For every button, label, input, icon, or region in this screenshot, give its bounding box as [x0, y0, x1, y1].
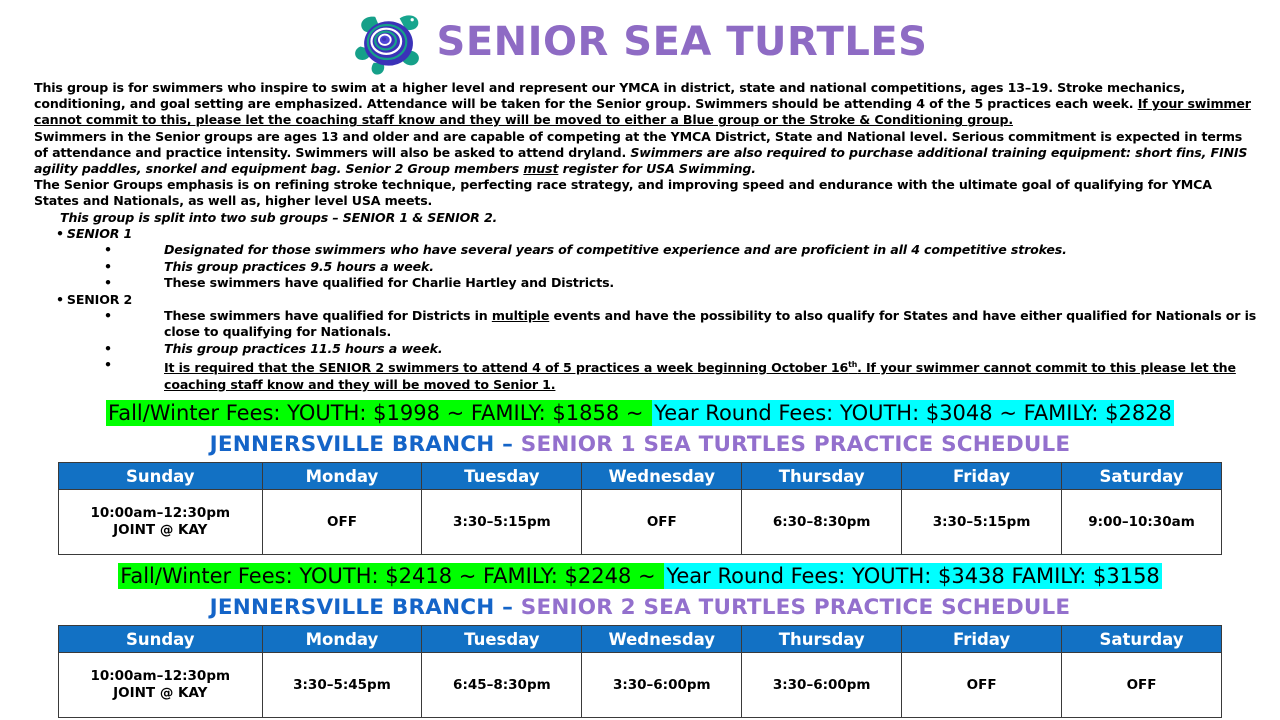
subgroup-heading-senior-1: •SENIOR 1 [56, 226, 1258, 242]
cell-wednesday: 3:30–6:00pm [582, 653, 742, 718]
group-schedule-label: SENIOR 1 SEA TURTLES PRACTICE SCHEDULE [521, 432, 1071, 457]
column-header-saturday: Saturday [1062, 626, 1222, 653]
cell-tuesday: 3:30–5:15pm [422, 490, 582, 555]
table-row: 10:00am–12:30pmJOINT @ KAY OFF 3:30–5:15… [59, 490, 1222, 555]
bullet-icon: • [104, 275, 164, 291]
description-paragraph-1: This group is for swimmers who inspire t… [34, 80, 1258, 129]
table-row: 10:00am–12:30pmJOINT @ KAY 3:30–5:45pm 6… [59, 653, 1222, 718]
senior-2-fall-winter-fees: Fall/Winter Fees: YOUTH: $2418 ~ FAMILY:… [118, 563, 664, 589]
sea-turtle-logo-icon [353, 5, 427, 79]
column-header-friday: Friday [902, 463, 1062, 490]
column-header-monday: Monday [262, 626, 422, 653]
senior-1-fall-winter-fees: Fall/Winter Fees: YOUTH: $1998 ~ FAMILY:… [106, 400, 652, 426]
subgroup-name: SENIOR 1 [67, 226, 132, 241]
table-header-row: Sunday Monday Tuesday Wednesday Thursday… [59, 626, 1222, 653]
column-header-sunday: Sunday [59, 626, 263, 653]
list-item-label: These swimmers have qualified for Charli… [164, 275, 1258, 291]
page-title: SENIOR SEA TURTLES [437, 19, 928, 65]
para1-text: This group is for swimmers who inspire t… [34, 80, 1185, 111]
list-item: • This group practices 9.5 hours a week. [104, 259, 1258, 275]
bullet-icon: • [104, 341, 164, 357]
description-paragraph-3: The Senior Groups emphasis is on refinin… [34, 177, 1258, 209]
text-pre: These swimmers have qualified for Distri… [164, 308, 492, 323]
list-item: • It is required that the SENIOR 2 swimm… [104, 357, 1258, 393]
senior-2-schedule-table-wrap: Sunday Monday Tuesday Wednesday Thursday… [0, 625, 1280, 718]
column-header-monday: Monday [262, 463, 422, 490]
cell-tuesday: 6:45–8:30pm [422, 653, 582, 718]
column-header-sunday: Sunday [59, 463, 263, 490]
ordinal-suffix: th [848, 360, 857, 369]
list-item-label: This group practices 11.5 hours a week. [164, 341, 1258, 357]
subgroup-heading-senior-2: •SENIOR 2 [56, 292, 1258, 308]
bullet-icon: • [56, 292, 64, 307]
senior-1-schedule-table: Sunday Monday Tuesday Wednesday Thursday… [58, 462, 1222, 555]
cell-thursday: 3:30–6:00pm [742, 653, 902, 718]
list-item: • These swimmers have qualified for Char… [104, 275, 1258, 291]
bullet-icon: • [56, 226, 64, 241]
para2-italic-tail: register for USA Swimming. [558, 161, 756, 176]
cell-thursday: 6:30–8:30pm [742, 490, 902, 555]
cell-friday: 3:30–5:15pm [902, 490, 1062, 555]
subgroups-intro: This group is split into two sub groups … [60, 210, 1258, 226]
senior-1-schedule-title: JENNERSVILLE BRANCH – SENIOR 1 SEA TURTL… [0, 432, 1280, 457]
cell-sunday: 10:00am–12:30pmJOINT @ KAY [59, 490, 263, 555]
branch-label: JENNERSVILLE BRANCH – [210, 432, 521, 457]
cell-monday: OFF [262, 490, 422, 555]
list-item-label: Designated for those swimmers who have s… [164, 242, 1258, 258]
senior-2-year-round-fees: Year Round Fees: YOUTH: $3438 FAMILY: $3… [664, 563, 1161, 589]
description-block: This group is for swimmers who inspire t… [0, 80, 1280, 210]
cell-monday: 3:30–5:45pm [262, 653, 422, 718]
column-header-wednesday: Wednesday [582, 626, 742, 653]
description-paragraph-2: Swimmers in the Senior groups are ages 1… [34, 129, 1258, 178]
para2-must: must [523, 161, 558, 176]
page-header: SENIOR SEA TURTLES [0, 0, 1280, 80]
column-header-thursday: Thursday [742, 626, 902, 653]
subgroups-block: This group is split into two sub groups … [0, 210, 1280, 394]
bullet-icon: • [104, 357, 164, 373]
cell-wednesday: OFF [582, 490, 742, 555]
column-header-wednesday: Wednesday [582, 463, 742, 490]
column-header-tuesday: Tuesday [422, 463, 582, 490]
list-item: • This group practices 11.5 hours a week… [104, 341, 1258, 357]
subgroup-name: SENIOR 2 [67, 292, 132, 307]
senior-2-schedule-title: JENNERSVILLE BRANCH – SENIOR 2 SEA TURTL… [0, 595, 1280, 620]
senior-1-year-round-fees: Year Round Fees: YOUTH: $3048 ~ FAMILY: … [652, 400, 1174, 426]
bullet-icon: • [104, 259, 164, 275]
column-header-thursday: Thursday [742, 463, 902, 490]
cell-friday: OFF [902, 653, 1062, 718]
text-pre: It is required that the SENIOR 2 swimmer… [164, 360, 848, 375]
cell-saturday: OFF [1062, 653, 1222, 718]
list-item: • Designated for those swimmers who have… [104, 242, 1258, 258]
cell-sunday: 10:00am–12:30pmJOINT @ KAY [59, 653, 263, 718]
list-item: • These swimmers have qualified for Dist… [104, 308, 1258, 341]
cell-saturday: 9:00–10:30am [1062, 490, 1222, 555]
text-underlined: multiple [492, 308, 549, 323]
column-header-saturday: Saturday [1062, 463, 1222, 490]
senior-1-fees-line: Fall/Winter Fees: YOUTH: $1998 ~ FAMILY:… [0, 401, 1280, 425]
list-item-label: These swimmers have qualified for Distri… [164, 308, 1258, 341]
branch-label: JENNERSVILLE BRANCH – [210, 595, 521, 620]
table-header-row: Sunday Monday Tuesday Wednesday Thursday… [59, 463, 1222, 490]
list-item-label: This group practices 9.5 hours a week. [164, 259, 1258, 275]
senior-2-schedule-table: Sunday Monday Tuesday Wednesday Thursday… [58, 625, 1222, 718]
senior-2-fees-line: Fall/Winter Fees: YOUTH: $2418 ~ FAMILY:… [0, 564, 1280, 588]
column-header-friday: Friday [902, 626, 1062, 653]
column-header-tuesday: Tuesday [422, 626, 582, 653]
list-item-label: It is required that the SENIOR 2 swimmer… [164, 357, 1258, 393]
bullet-icon: • [104, 242, 164, 258]
group-schedule-label: SENIOR 2 SEA TURTLES PRACTICE SCHEDULE [521, 595, 1071, 620]
senior-1-schedule-table-wrap: Sunday Monday Tuesday Wednesday Thursday… [0, 462, 1280, 555]
bullet-icon: • [104, 308, 164, 324]
